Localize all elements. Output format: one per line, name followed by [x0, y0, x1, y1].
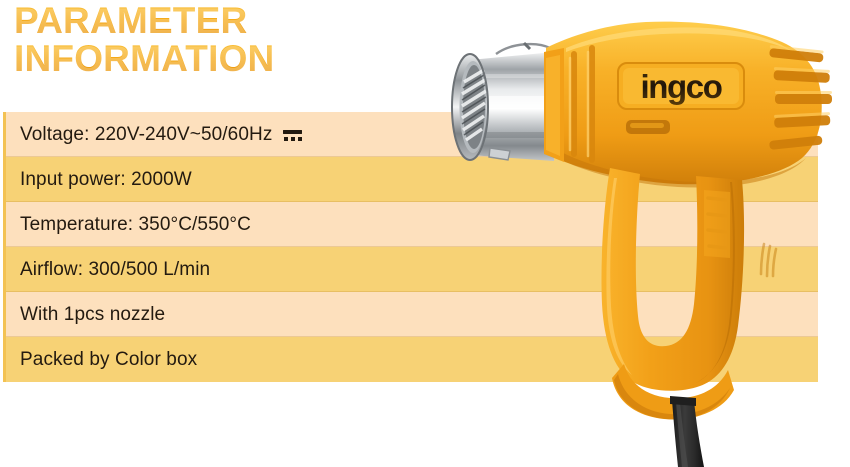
- power-cord: [670, 396, 704, 467]
- table-row: Voltage: 220V-240V~50/60Hz: [6, 112, 818, 157]
- table-row: Airflow: 300/500 L/min: [6, 247, 818, 292]
- title-line-2: INFORMATION: [14, 40, 274, 78]
- spec-packing: Packed by Color box: [20, 349, 197, 371]
- table-row: Packed by Color box: [6, 337, 818, 382]
- table-row: Input power: 2000W: [6, 157, 818, 202]
- spec-temperature: Temperature: 350°C/550°C: [20, 214, 251, 236]
- brand-plate: ingco: [618, 63, 744, 109]
- spec-input-power: Input power: 2000W: [20, 169, 192, 191]
- spec-airflow: Airflow: 300/500 L/min: [20, 259, 210, 281]
- rear-vents-highlight: [770, 45, 832, 118]
- spec-nozzle: With 1pcs nozzle: [20, 304, 165, 326]
- dc-power-icon: [283, 130, 302, 141]
- page-title: PARAMETER INFORMATION: [14, 2, 274, 77]
- title-line-1: PARAMETER: [14, 2, 274, 40]
- spec-voltage: Voltage: 220V-240V~50/60Hz: [20, 124, 272, 146]
- product-spec-image: PARAMETER INFORMATION Voltage: 220V-240V…: [0, 0, 850, 467]
- parameter-table: Voltage: 220V-240V~50/60Hz Input power: …: [3, 112, 818, 382]
- table-row: With 1pcs nozzle: [6, 292, 818, 337]
- brand-logo-text: ingco: [641, 68, 722, 105]
- table-row: Temperature: 350°C/550°C: [6, 202, 818, 247]
